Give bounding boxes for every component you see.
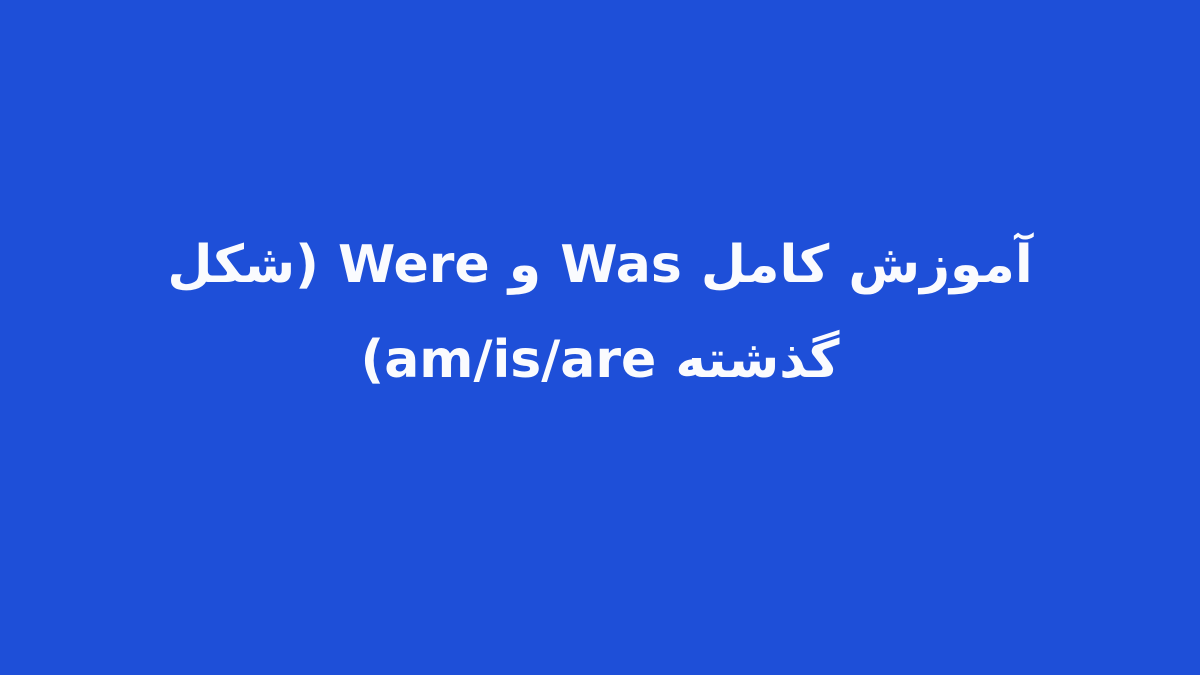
page-title: آموزش کامل Was و Were (شکل گذشته am/is/a… xyxy=(103,218,1097,408)
banner-background: آموزش کامل Was و Were (شکل گذشته am/is/a… xyxy=(0,0,1200,675)
title-block: آموزش کامل Was و Were (شکل گذشته am/is/a… xyxy=(95,218,1105,408)
